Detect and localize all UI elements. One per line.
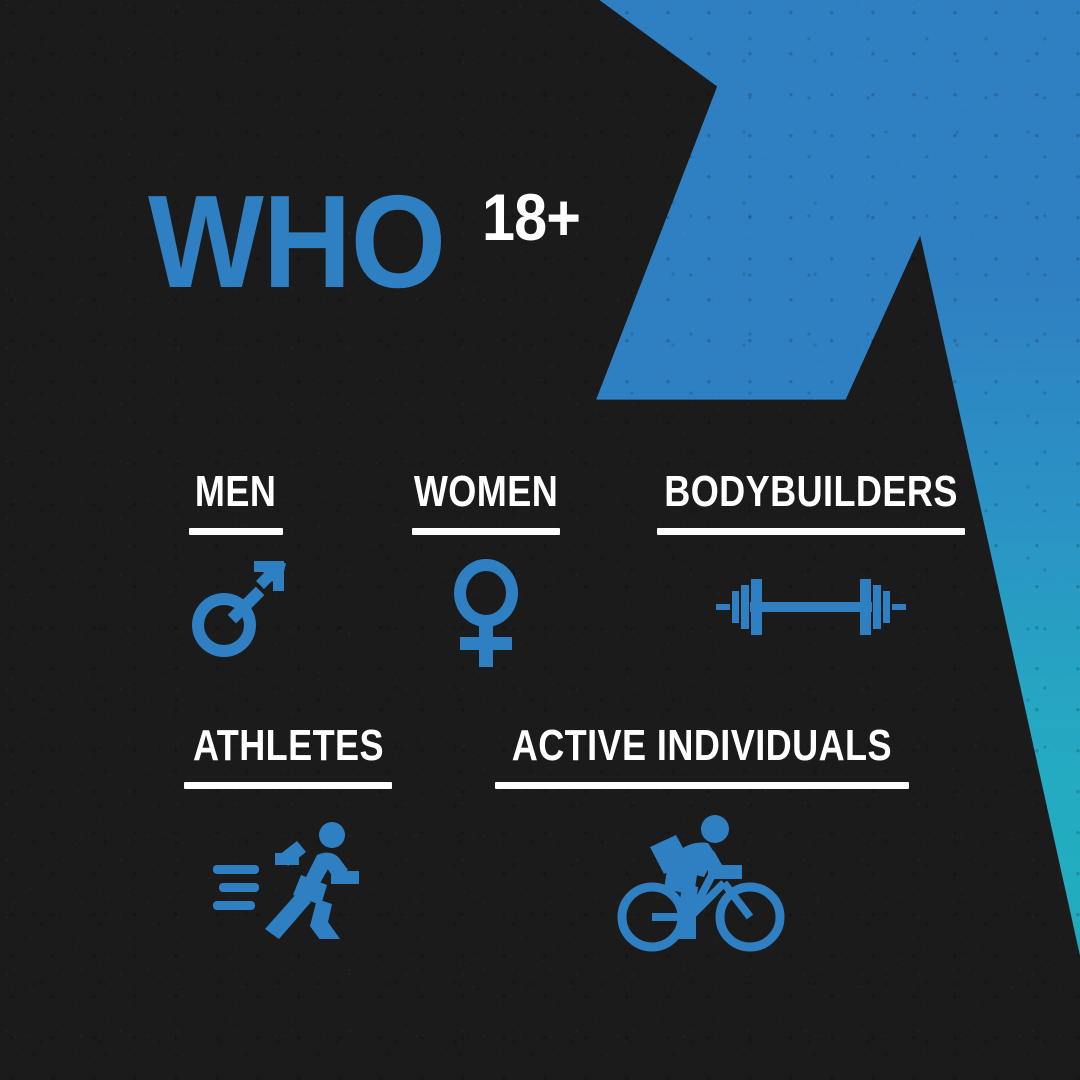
category-bodybuilders: BODYBUILDERS [632, 470, 990, 650]
category-label-bodybuilders: BODYBUILDERS [664, 470, 958, 514]
category-women: WOMEN [398, 470, 574, 674]
category-underline-bodybuilders [657, 528, 965, 535]
category-active-individuals: ACTIVE INDIVIDUALS [470, 724, 934, 958]
category-underline-active-individuals [495, 782, 909, 789]
barbell-icon [706, 571, 916, 650]
category-label-men: MEN [195, 470, 276, 514]
category-label-active-individuals: ACTIVE INDIVIDUALS [512, 724, 892, 768]
category-underline-women [412, 528, 560, 535]
running-person-icon [213, 819, 363, 944]
headline: WHO 18+ [148, 176, 591, 308]
mars-symbol-icon [180, 557, 292, 674]
headline-word-who: WHO [148, 176, 445, 308]
category-underline-men [189, 528, 283, 535]
venus-symbol-icon [438, 557, 534, 674]
poster-canvas: WHO 18+ MEN WOMEN [0, 0, 1080, 1080]
category-men: MEN [180, 470, 292, 674]
category-underline-athletes [184, 782, 392, 789]
category-athletes: ATHLETES [172, 724, 405, 944]
headline-age-badge: 18+ [482, 184, 580, 250]
category-label-athletes: ATHLETES [193, 724, 384, 768]
cyclist-icon [616, 813, 788, 958]
category-label-women: WOMEN [414, 470, 558, 514]
